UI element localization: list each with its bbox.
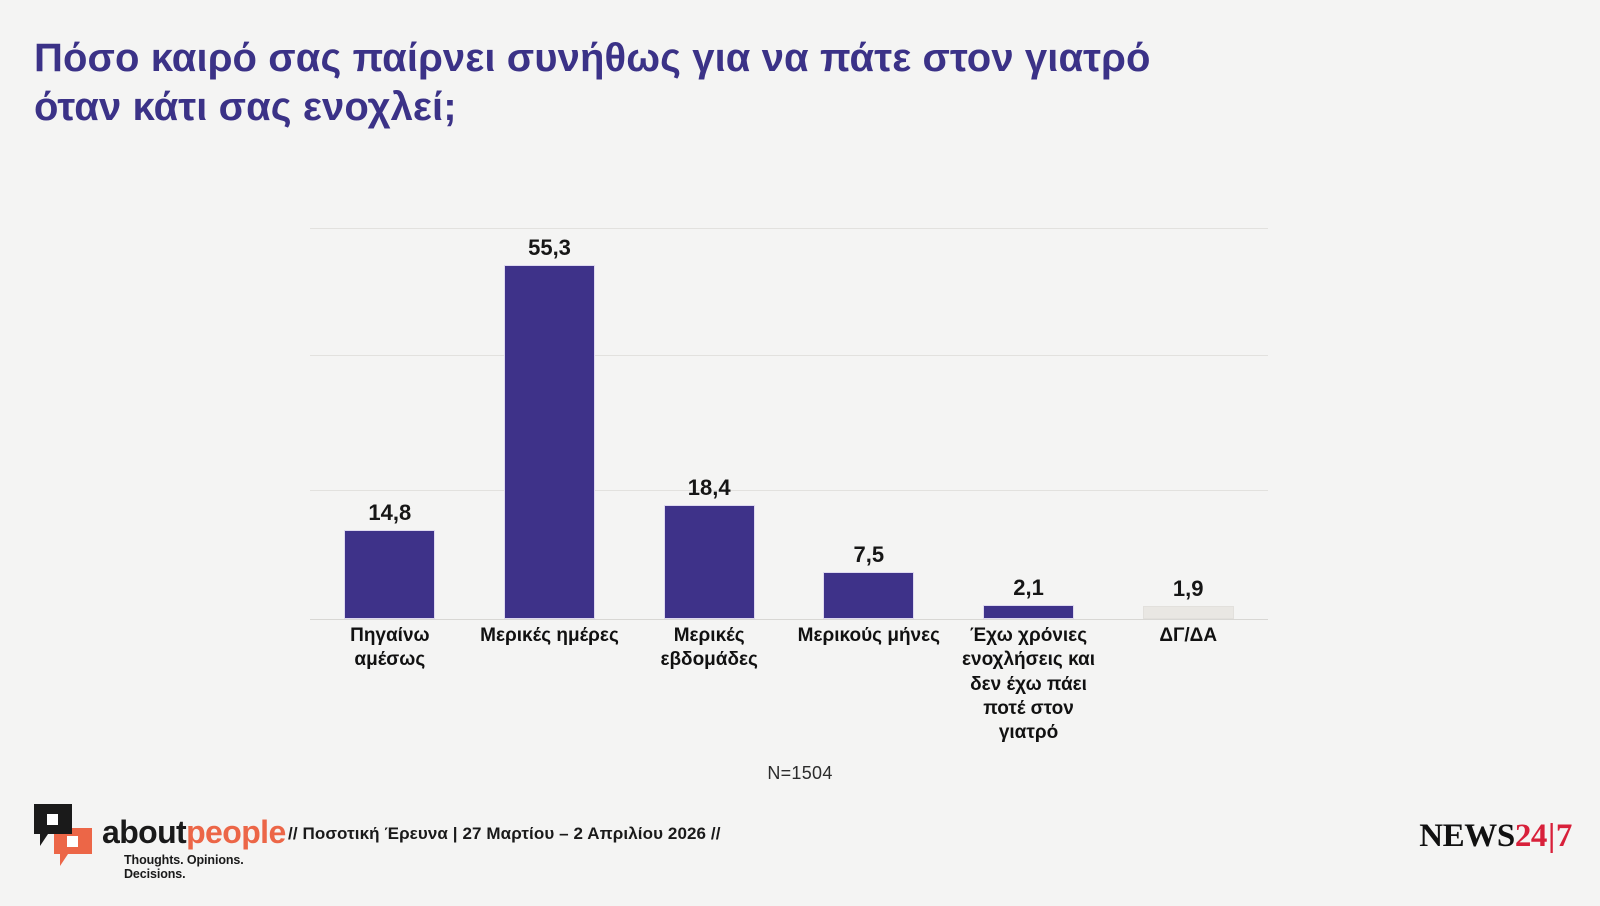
news-logo-separator: | bbox=[1547, 818, 1556, 854]
bar-value-label: 2,1 bbox=[1013, 577, 1044, 599]
sample-size-note: N=1504 bbox=[0, 763, 1600, 784]
bar-value-label: 14,8 bbox=[368, 502, 411, 524]
bar-4[interactable] bbox=[983, 605, 1074, 619]
bar-group-4: 2,1 bbox=[949, 230, 1109, 619]
footer: aboutpeople Thoughts. Opinions. Decision… bbox=[0, 796, 1600, 906]
category-label: ΔΓ/ΔΑ bbox=[1112, 624, 1264, 648]
bar-chart: 14,8 55,3 18,4 7,5 2,1 1,9 bbox=[310, 228, 1268, 620]
news247-logo: NEWS24|7 bbox=[1419, 820, 1572, 853]
category-label: Μερικές ημέρες bbox=[474, 624, 626, 648]
bar-value-label: 18,4 bbox=[688, 477, 731, 499]
bar-value-label: 55,3 bbox=[528, 237, 571, 259]
bar-0[interactable] bbox=[344, 530, 435, 619]
bar-2[interactable] bbox=[664, 505, 755, 619]
category-axis: Πηγαίνω αμέσως Μερικές ημέρες Μερικές εβ… bbox=[310, 624, 1268, 746]
aboutpeople-logo: aboutpeople Thoughts. Opinions. Decision… bbox=[34, 804, 284, 876]
category-3: Μερικούς μήνες bbox=[789, 624, 949, 648]
bar-3[interactable] bbox=[823, 572, 914, 619]
bar-1[interactable] bbox=[504, 265, 595, 619]
bar-group-5: 1,9 bbox=[1108, 230, 1268, 619]
speech-bubbles-icon bbox=[34, 804, 92, 866]
page-title: Πόσο καιρό σας παίρνει συνήθως για να πά… bbox=[34, 34, 1334, 132]
category-label: Μερικές εβδομάδες bbox=[633, 624, 785, 673]
logo-word-people: people bbox=[186, 814, 286, 850]
logo-wordmark: aboutpeople bbox=[102, 816, 286, 848]
bar-group-1: 55,3 bbox=[470, 230, 630, 619]
survey-credit: // Ποσοτική Έρευνα | 27 Μαρτίου – 2 Απρι… bbox=[288, 824, 721, 844]
category-label: Έχω χρόνιες ενοχλήσεις και δεν έχω πάει … bbox=[953, 624, 1105, 746]
category-5: ΔΓ/ΔΑ bbox=[1108, 624, 1268, 648]
category-label: Μερικούς μήνες bbox=[793, 624, 945, 648]
axis-baseline bbox=[310, 619, 1268, 620]
category-4: Έχω χρόνιες ενοχλήσεις και δεν έχω πάει … bbox=[949, 624, 1109, 746]
news-logo-word: NEWS bbox=[1419, 818, 1515, 854]
news-logo-num-left: 24 bbox=[1515, 818, 1547, 854]
bars-container: 14,8 55,3 18,4 7,5 2,1 1,9 bbox=[310, 230, 1268, 619]
bar-group-3: 7,5 bbox=[789, 230, 949, 619]
logo-word-about: about bbox=[102, 814, 186, 850]
news-logo-num-right: 7 bbox=[1556, 818, 1572, 854]
category-1: Μερικές ημέρες bbox=[470, 624, 630, 648]
category-2: Μερικές εβδομάδες bbox=[629, 624, 789, 673]
bar-value-label: 7,5 bbox=[854, 544, 885, 566]
category-0: Πηγαίνω αμέσως bbox=[310, 624, 470, 673]
gridline-top bbox=[310, 228, 1268, 229]
logo-tagline: Thoughts. Opinions. Decisions. bbox=[124, 853, 284, 881]
category-label: Πηγαίνω αμέσως bbox=[314, 624, 466, 673]
bar-5[interactable] bbox=[1143, 606, 1234, 619]
bar-value-label: 1,9 bbox=[1173, 578, 1204, 600]
bar-group-2: 18,4 bbox=[629, 230, 789, 619]
bar-group-0: 14,8 bbox=[310, 230, 470, 619]
